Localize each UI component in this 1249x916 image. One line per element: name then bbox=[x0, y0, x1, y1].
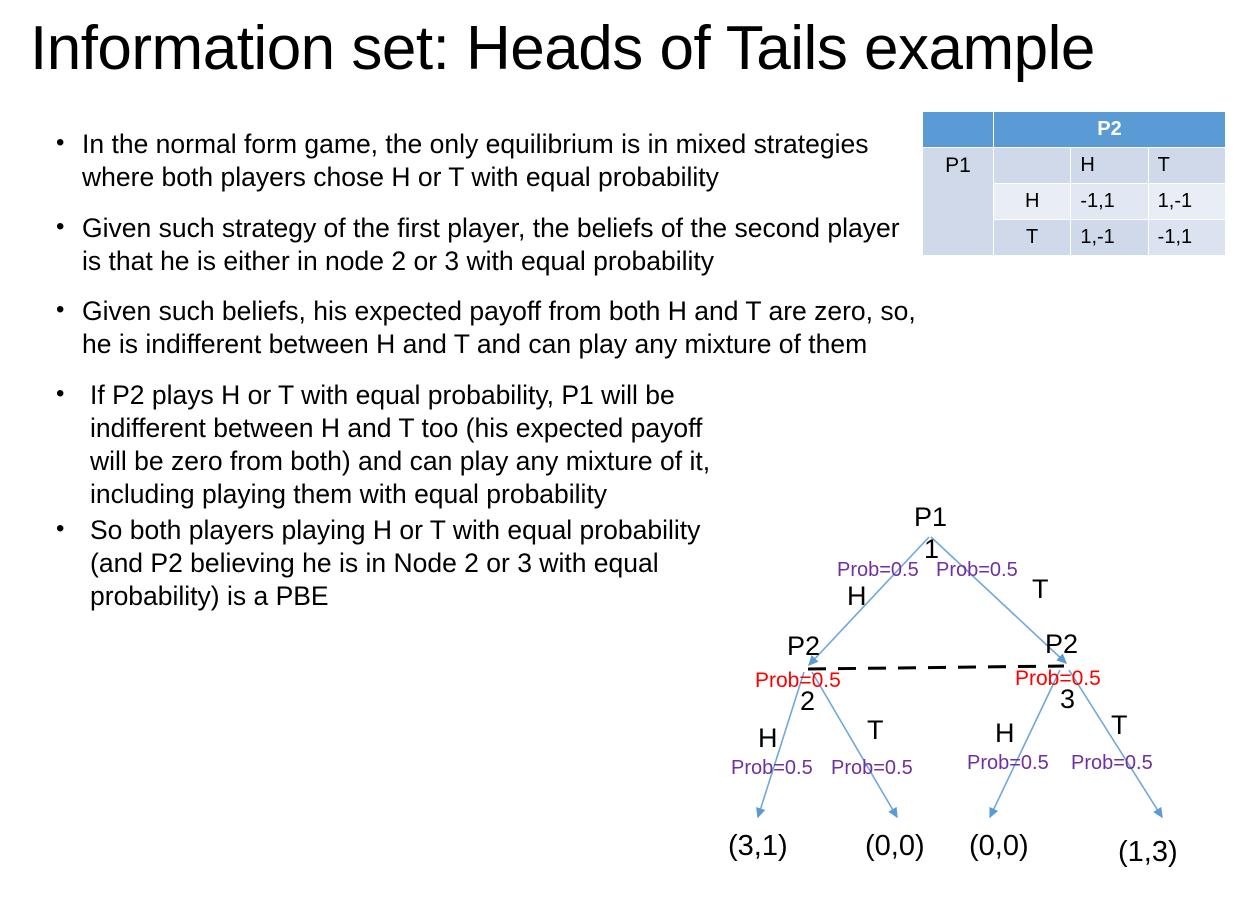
list-item: • Given such beliefs, his expected payof… bbox=[42, 295, 922, 362]
edge-node3-t bbox=[1069, 670, 1162, 817]
slide-canvas: Information set: Heads of Tails example … bbox=[0, 0, 1249, 916]
bullet-text: In the normal form game, the only equili… bbox=[82, 129, 869, 192]
matrix-blank-cell bbox=[994, 148, 1071, 184]
table-row: P2 bbox=[923, 112, 1226, 148]
tree-node3-t-prob: Prob=0.5 bbox=[1071, 753, 1153, 773]
matrix-row-header-h: H bbox=[994, 184, 1071, 220]
bullet-marker-icon: • bbox=[56, 378, 64, 409]
tree-node2-h-action: H bbox=[758, 725, 778, 752]
matrix-col-header-h: H bbox=[1071, 148, 1148, 184]
matrix-col-header-t: T bbox=[1148, 148, 1225, 184]
bullet-marker-icon: • bbox=[56, 127, 64, 158]
bullet-marker-icon: • bbox=[56, 294, 64, 325]
tree-node3-t-action: T bbox=[1111, 712, 1128, 739]
tree-node2-t-action: T bbox=[867, 717, 884, 744]
tree-root-left-action: H bbox=[847, 583, 867, 610]
bullet-marker-icon: • bbox=[56, 513, 64, 544]
matrix-cell-tt: -1,1 bbox=[1148, 220, 1225, 256]
matrix-cell-ht: 1,-1 bbox=[1148, 184, 1225, 220]
list-item: • So both players playing H or T with eq… bbox=[42, 514, 735, 614]
list-item: • If P2 plays H or T with equal probabil… bbox=[42, 379, 735, 512]
matrix-column-player-header: P2 bbox=[994, 112, 1226, 148]
bullet-text: So both players playing H or T with equa… bbox=[90, 515, 700, 612]
tree-node2-id: 2 bbox=[800, 688, 815, 715]
tree-payoff-1: (3,1) bbox=[728, 832, 788, 861]
tree-payoff-3: (0,0) bbox=[969, 832, 1029, 861]
tree-payoff-4: (1,3) bbox=[1118, 838, 1178, 867]
tree-node3-belief-prob: Prob=0.5 bbox=[1015, 668, 1101, 689]
bullet-marker-icon: • bbox=[56, 211, 64, 242]
matrix-corner-cell bbox=[923, 112, 994, 148]
table-row: P1 H T bbox=[923, 148, 1226, 184]
matrix-row-header-t: T bbox=[994, 220, 1071, 256]
tree-root-player-label: P1 bbox=[914, 504, 947, 531]
bullet-text: Given such beliefs, his expected payoff … bbox=[82, 296, 916, 359]
page-title: Information set: Heads of Tails example bbox=[30, 16, 1220, 81]
tree-root-right-action: T bbox=[1032, 576, 1049, 603]
bullet-text: Given such strategy of the first player,… bbox=[82, 213, 900, 276]
matrix-cell-hh: -1,1 bbox=[1071, 184, 1148, 220]
matrix-cell-th: 1,-1 bbox=[1071, 220, 1148, 256]
edge-root-to-node2 bbox=[809, 537, 929, 665]
list-item: • Given such strategy of the first playe… bbox=[42, 212, 922, 279]
matrix-row-player-header: P1 bbox=[923, 148, 994, 256]
tree-node3-id: 3 bbox=[1060, 686, 1075, 713]
tree-node3-player-label: P2 bbox=[1045, 631, 1078, 658]
tree-root-left-prob: Prob=0.5 bbox=[837, 560, 919, 580]
bullet-text: If P2 plays H or T with equal probabilit… bbox=[90, 380, 710, 510]
game-tree-diagram: P1 1 Prob=0.5 H Prob=0.5 T P2 Prob=0.5 2… bbox=[690, 490, 1235, 890]
tree-node2-player-label: P2 bbox=[787, 633, 820, 660]
tree-node2-t-prob: Prob=0.5 bbox=[831, 758, 913, 778]
edge-node2-t bbox=[812, 672, 897, 817]
tree-node3-h-prob: Prob=0.5 bbox=[967, 753, 1049, 773]
tree-node3-h-action: H bbox=[995, 720, 1015, 747]
tree-node2-h-prob: Prob=0.5 bbox=[731, 758, 813, 778]
tree-node2-belief-prob: Prob=0.5 bbox=[755, 670, 841, 691]
tree-payoff-2: (0,0) bbox=[865, 832, 925, 861]
tree-root-right-prob: Prob=0.5 bbox=[936, 560, 1018, 580]
list-item: • In the normal form game, the only equi… bbox=[42, 128, 922, 195]
payoff-matrix-table: P2 P1 H T H -1,1 1,-1 T 1,-1 -1,1 bbox=[922, 111, 1226, 256]
